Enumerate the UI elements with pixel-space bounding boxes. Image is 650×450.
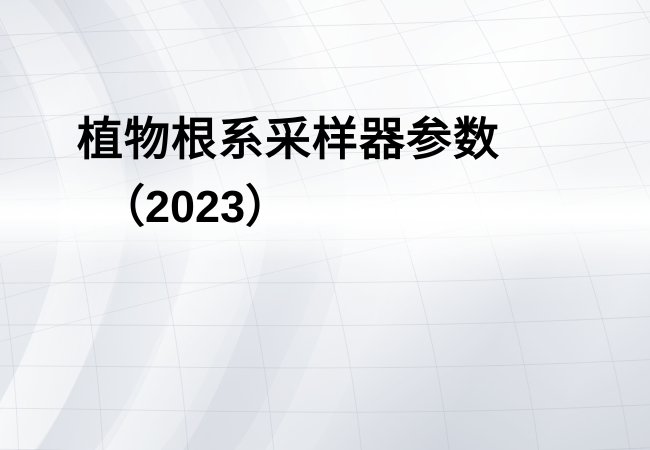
title-slide: 植物根系采样器参数 （2023） — [0, 0, 650, 450]
slide-title-line-1: 植物根系采样器参数 — [77, 116, 650, 163]
slide-title-line-2: （2023） — [100, 184, 650, 230]
slide-title-block: 植物根系采样器参数 （2023） — [0, 116, 650, 230]
